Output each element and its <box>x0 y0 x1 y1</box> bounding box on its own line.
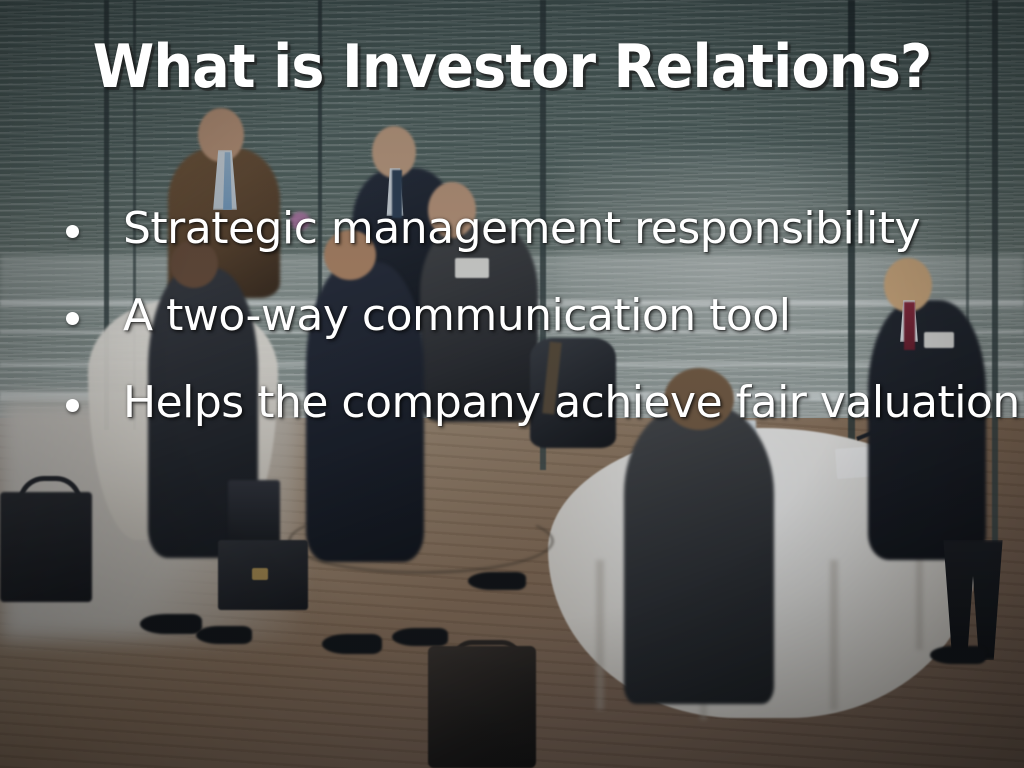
list-item: A two-way communication tool <box>58 293 1004 339</box>
slide-canvas: What is Investor Relations? Strategic ma… <box>0 0 1024 768</box>
list-item: Strategic management responsibility <box>58 206 1004 252</box>
bullet-dot-icon <box>66 399 79 412</box>
slide-title: What is Investor Relations? <box>36 36 988 99</box>
slide-content: What is Investor Relations? Strategic ma… <box>0 0 1024 768</box>
bullet-dot-icon <box>66 312 79 325</box>
bullet-dot-icon <box>66 225 79 238</box>
bullet-text: Strategic management responsibility <box>123 206 920 252</box>
bullet-list: Strategic management responsibility A tw… <box>58 206 1004 427</box>
bullet-text: A two-way communication tool <box>123 293 790 339</box>
list-item: Helps the company achieve fair valuation <box>58 380 1004 426</box>
bullet-text: Helps the company achieve fair valuation <box>123 380 1020 426</box>
